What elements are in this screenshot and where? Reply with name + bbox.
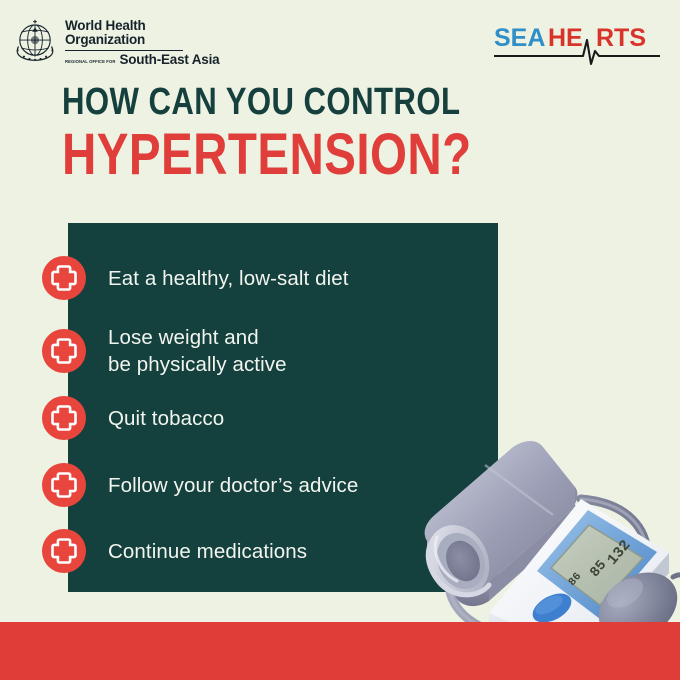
medical-cross-icon xyxy=(42,529,86,573)
list-item-label: Lose weight and be physically active xyxy=(108,324,287,378)
medical-cross-icon xyxy=(42,396,86,440)
medical-cross-icon xyxy=(42,329,86,373)
list-item[interactable]: Continue medications xyxy=(42,529,307,573)
poster-canvas: World Health Organization REGIONAL OFFIC… xyxy=(0,0,680,680)
sea-hearts-rts-text: RTS xyxy=(596,24,646,52)
list-item-label: Follow your doctor’s advice xyxy=(108,472,358,499)
list-item-label: Continue medications xyxy=(108,538,307,565)
tips-list: Eat a healthy, low-salt diet Lose weight… xyxy=(0,0,520,400)
medical-cross-icon xyxy=(42,463,86,507)
list-item[interactable]: Lose weight and be physically active xyxy=(42,324,287,378)
list-item[interactable]: Eat a healthy, low-salt diet xyxy=(42,256,349,300)
bottom-accent-bar xyxy=(0,622,680,680)
medical-cross-icon xyxy=(42,256,86,300)
list-item-label: Eat a healthy, low-salt diet xyxy=(108,265,349,292)
list-item[interactable]: Quit tobacco xyxy=(42,396,224,440)
list-item[interactable]: Follow your doctor’s advice xyxy=(42,463,358,507)
list-item-label: Quit tobacco xyxy=(108,405,224,432)
sea-hearts-he-text: HE xyxy=(548,24,583,52)
